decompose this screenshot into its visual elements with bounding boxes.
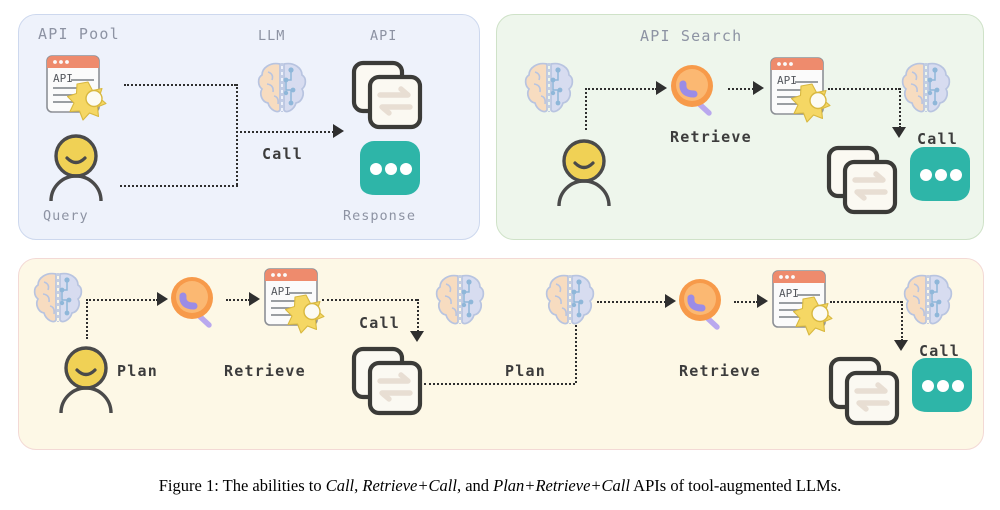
caption-text: , and [457,476,493,495]
api-stack-icon-search [825,144,901,216]
llm-label: LLM [258,28,285,44]
api-document-icon: API [44,53,110,117]
connector-doc-to-bus [124,84,236,86]
svg-text:API: API [777,74,797,87]
caption-text: The abilities to [223,476,326,495]
connector-call1-down [417,299,419,332]
connector-search-brain-to-magnifier [585,88,657,90]
connector-query-to-bus [120,185,238,187]
connector-plan1-down [86,299,88,339]
edge-label-call-search: Call [917,130,958,148]
caption-emphasis: Call [326,476,354,495]
connector-search-brain-down [585,88,587,130]
connector-bus-to-api [236,131,334,133]
response-label: Response [343,208,416,224]
caption-prefix: Figure 1: [159,476,223,495]
panel-title-api-search: API Search [640,27,742,45]
caption-emphasis: Plan+Retrieve+Call [493,476,630,495]
arrow-to-doc-search [753,81,764,95]
panel-title-api-pool: API Pool [38,25,120,43]
llm-brain-icon-plan-3 [544,272,596,328]
caption-emphasis: Retrieve+Call [362,476,457,495]
user-query-icon [45,133,107,201]
api-document-icon-search: API [768,55,834,119]
arrow-magnifier1-to-doc [249,292,260,306]
connector-magnifier-to-doc-search [728,88,754,90]
llm-brain-icon [256,60,308,116]
arrow-plan2-to-magnifier2 [665,294,676,308]
llm-brain-icon-plan-2 [434,272,486,328]
svg-text:API: API [53,72,73,85]
connector-magnifier1-to-doc [226,299,250,301]
llm-brain-icon-plan-1 [32,270,84,326]
edge-label-retrieve-plan-1: Retrieve [224,362,306,380]
magnifier-icon-search [668,62,724,120]
arrow-magnifier2-to-doc2 [757,294,768,308]
api-document-icon-plan-2: API [770,268,836,332]
llm-brain-icon-plan-4 [902,272,954,328]
edge-label-plan-1: Plan [117,362,158,380]
connector-doc1-to-call1 [322,299,417,301]
edge-label-call-plan-1: Call [359,314,400,332]
edge-label-plan-2: Plan [505,362,546,380]
arrow-call-down-search [892,127,906,138]
edge-label-call-pool: Call [262,145,303,163]
response-bubble-icon-plan [910,358,976,420]
response-bubble-icon [358,141,424,203]
caption-text: APIs of tool-augmented LLMs. [630,476,841,495]
arrow-call2-down [894,340,908,351]
user-query-icon-plan [55,345,117,413]
edge-label-retrieve-search: Retrieve [670,128,752,146]
api-stack-label: API [370,28,397,44]
llm-brain-icon-search [523,60,575,116]
api-stack-icon-plan-2 [827,355,903,427]
connector-stack1-to-plan2 [424,383,575,385]
api-stack-icon-plan-1 [350,345,426,417]
connector-bus-vertical [236,84,238,185]
connector-magnifier2-to-doc2 [734,301,758,303]
svg-text:API: API [779,287,799,300]
api-document-icon-plan-1: API [262,266,328,330]
connector-doc2-to-call2 [830,301,902,303]
arrow-plan1-to-magnifier [157,292,168,306]
user-query-label: Query [43,208,89,224]
edge-label-retrieve-plan-2: Retrieve [679,362,761,380]
connector-doc-to-call-search [828,88,900,90]
arrow-call-to-api [333,124,344,138]
magnifier-icon-plan-2 [676,276,732,334]
connector-plan2-to-magnifier2 [597,301,666,303]
llm-brain-icon-search-2 [900,60,952,116]
connector-plan1-to-magnifier [86,299,158,301]
arrow-to-magnifier-search [656,81,667,95]
arrow-call1-down [410,331,424,342]
user-query-icon-search [553,138,615,206]
response-bubble-icon-search [908,147,974,209]
figure-caption: Figure 1: The abilities to Call, Retriev… [30,476,970,496]
figure-canvas: API Pool API Query LLM [0,0,1000,510]
api-stack-icon [350,59,426,131]
magnifier-icon-plan-1 [168,274,224,332]
svg-text:API: API [271,285,291,298]
